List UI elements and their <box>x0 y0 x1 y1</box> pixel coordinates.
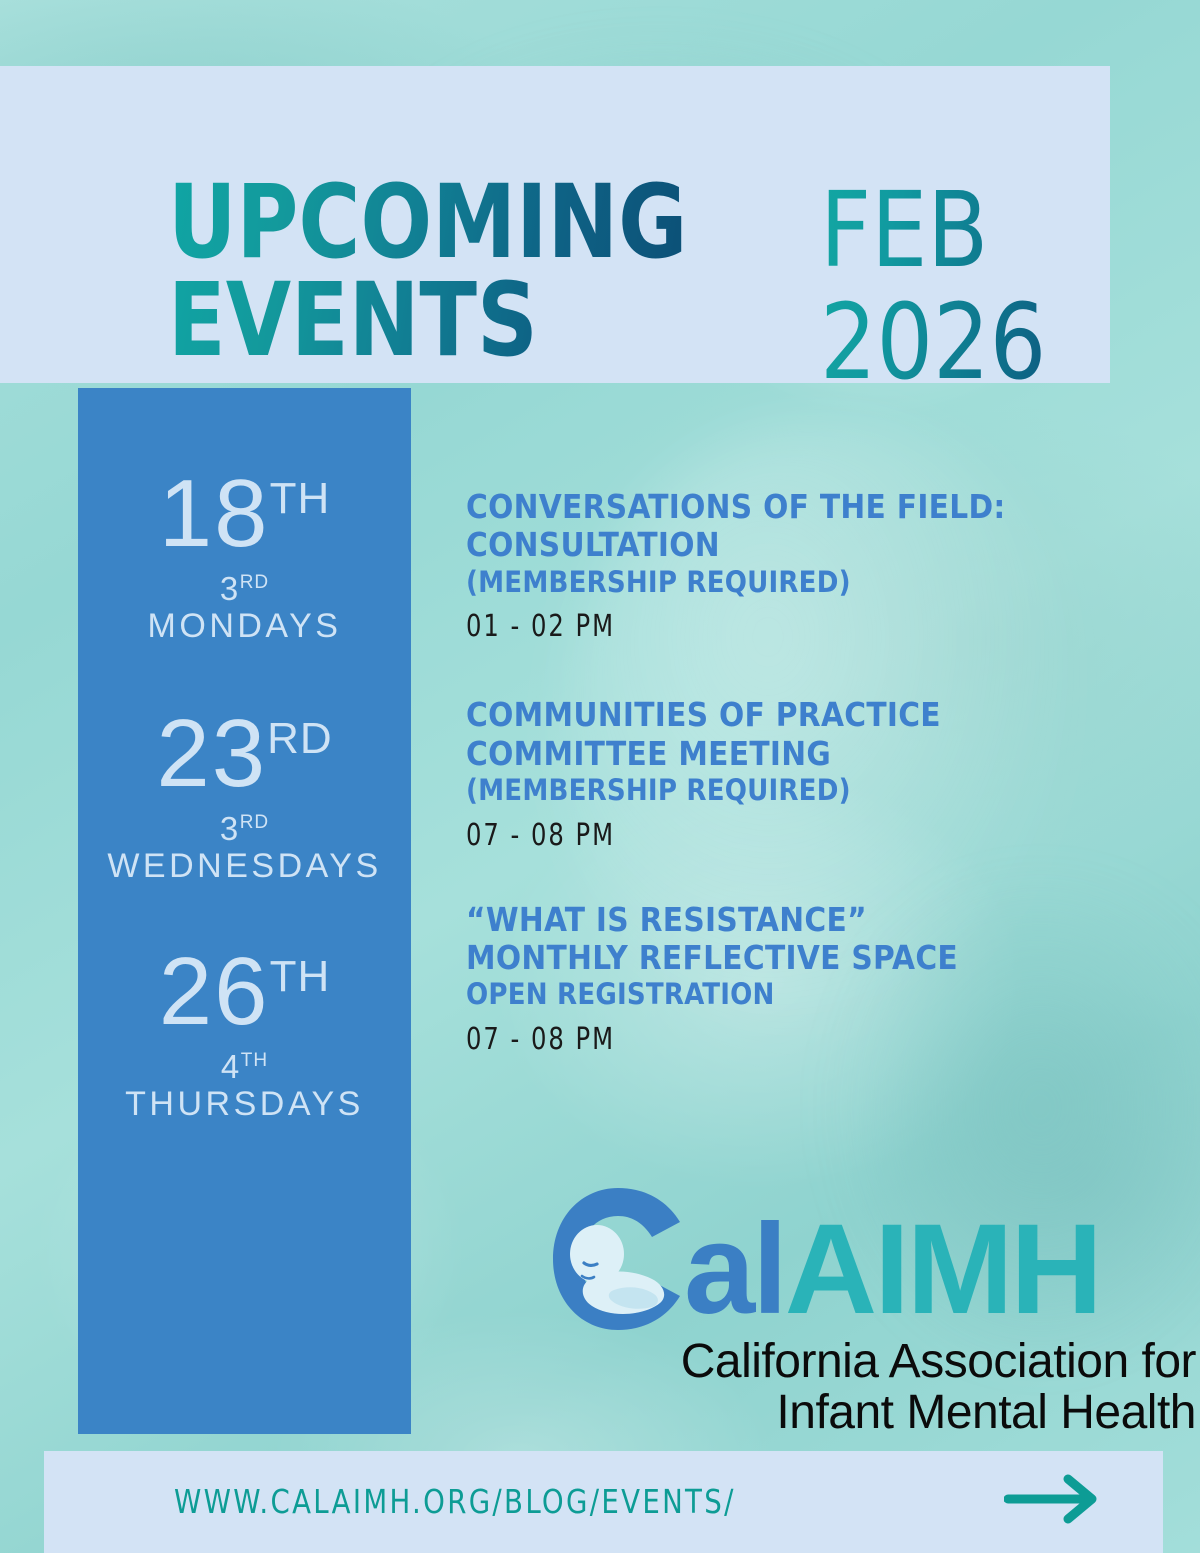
event-time: 07 - 08 PM <box>466 1022 1096 1057</box>
date-day-number: 23 <box>156 700 267 807</box>
header-date: FEB 2026 <box>820 174 1046 399</box>
event-time: 07 - 08 PM <box>466 818 1096 853</box>
date-entry: 18TH 3RD MONDAYS <box>78 466 411 644</box>
date-day-number: 18 <box>159 460 270 567</box>
event-item: “WHAT IS RESISTANCE” MONTHLY REFLECTIVE … <box>466 901 1166 1057</box>
logo-tagline-line2: Infant Mental Health <box>548 1387 1196 1438</box>
logo-wordmark-al: al <box>684 1198 785 1341</box>
logo-wordmark-aimh: AIMH <box>785 1198 1100 1341</box>
date-weekday: MONDAYS <box>78 609 411 645</box>
date-day-number: 26 <box>159 938 270 1045</box>
event-title: COMMUNITIES OF PRACTICE COMMITTEE MEETIN… <box>466 696 1166 773</box>
date-frequency-ordinal: TH <box>241 1050 268 1071</box>
logo-tagline-line1: California Association for <box>548 1336 1196 1387</box>
website-url-link[interactable]: WWW.CALAIMH.ORG/BLOG/EVENTS/ <box>174 1482 736 1521</box>
event-title: “WHAT IS RESISTANCE” MONTHLY REFLECTIVE … <box>466 901 1166 978</box>
date-frequency-ordinal: RD <box>240 572 269 593</box>
date-day-ordinal: TH <box>270 474 331 523</box>
header-year: 2026 <box>820 286 1046 398</box>
date-frequency-ordinal: RD <box>240 812 269 833</box>
date-frequency-number: 4 <box>221 1048 241 1085</box>
event-item: COMMUNITIES OF PRACTICE COMMITTEE MEETIN… <box>466 696 1166 852</box>
date-day: 18TH <box>78 466 411 562</box>
logo-c-baby-icon <box>548 1186 688 1332</box>
date-day: 23RD <box>78 706 411 802</box>
event-item: CONVERSATIONS OF THE FIELD: CONSULTATION… <box>466 488 1166 644</box>
date-day: 26TH <box>78 944 411 1040</box>
logo-tagline: California Association for Infant Mental… <box>548 1336 1196 1439</box>
date-frequency: 3RD <box>78 812 411 847</box>
page-title: UPCOMING EVENTS <box>168 174 687 370</box>
date-entry: 23RD 3RD WEDNESDAYS <box>78 706 411 884</box>
date-frequency-number: 3 <box>220 810 240 847</box>
logo-mark-row: alAIMH <box>548 1186 1196 1332</box>
date-column: 18TH 3RD MONDAYS 23RD 3RD WEDNESDAYS 26T… <box>78 388 411 1434</box>
date-entry: 26TH 4TH THURSDAYS <box>78 944 411 1122</box>
date-frequency: 4TH <box>78 1050 411 1085</box>
date-frequency-number: 3 <box>220 570 240 607</box>
header-month: FEB <box>820 169 988 291</box>
date-weekday: THURSDAYS <box>78 1087 411 1123</box>
calaimh-logo: alAIMH California Association for Infant… <box>548 1186 1196 1439</box>
event-title: CONVERSATIONS OF THE FIELD: CONSULTATION <box>466 488 1166 565</box>
date-weekday: WEDNESDAYS <box>78 849 411 885</box>
poster-canvas: UPCOMING EVENTS FEB 2026 18TH 3RD MONDAY… <box>0 0 1200 1553</box>
logo-wordmark: alAIMH <box>684 1207 1100 1332</box>
header-band: UPCOMING EVENTS FEB 2026 <box>0 66 1110 383</box>
event-subtitle: (MEMBERSHIP REQUIRED) <box>466 773 1166 808</box>
event-time: 01 - 02 PM <box>466 609 1096 644</box>
date-day-ordinal: RD <box>267 714 333 763</box>
date-frequency: 3RD <box>78 572 411 607</box>
event-subtitle: (MEMBERSHIP REQUIRED) <box>466 565 1166 600</box>
date-day-ordinal: TH <box>270 952 331 1001</box>
arrow-right-icon[interactable] <box>1004 1473 1104 1525</box>
event-subtitle: OPEN REGISTRATION <box>466 977 1166 1012</box>
footer-band: WWW.CALAIMH.ORG/BLOG/EVENTS/ <box>44 1451 1163 1553</box>
events-list: CONVERSATIONS OF THE FIELD: CONSULTATION… <box>466 488 1166 1101</box>
